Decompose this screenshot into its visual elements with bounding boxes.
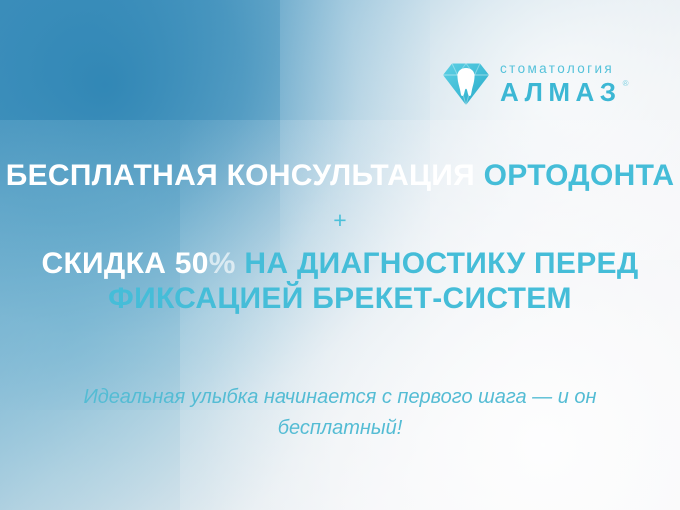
logo-word-bottom-text: АЛМАЗ	[500, 77, 622, 107]
promo-banner: стоматология АЛМАЗ® БЕСПЛАТНАЯ КОНСУЛЬТА…	[0, 0, 680, 510]
headline-line-1-accent: ОРТОДОНТА	[484, 159, 675, 192]
headline-line-2-white: СКИДКА 50	[41, 247, 208, 280]
diamond-tooth-icon	[441, 60, 491, 107]
logo-word-bottom: АЛМАЗ®	[500, 79, 622, 105]
headline-line-1: БЕСПЛАТНАЯ КОНСУЛЬТАЦИЯ ОРТОДОНТА	[0, 160, 680, 192]
headline-percent-sign: %	[209, 247, 236, 280]
logo-wordmark: стоматология АЛМАЗ®	[500, 62, 622, 105]
headline-block: БЕСПЛАТНАЯ КОНСУЛЬТАЦИЯ ОРТОДОНТА + СКИД…	[0, 160, 680, 314]
tagline-block: Идеальная улыбка начинается с первого ша…	[0, 382, 680, 444]
headline-line-1-white: БЕСПЛАТНАЯ КОНСУЛЬТАЦИЯ	[6, 159, 475, 192]
headline-line-3-accent: ФИКСАЦИЕЙ БРЕКЕТ-СИСТЕМ	[108, 282, 572, 315]
headline-line-2: СКИДКА 50% НА ДИАГНОСТИКУ ПЕРЕД	[0, 248, 680, 280]
plus-separator: +	[0, 209, 680, 232]
headline-line-2-accent: НА ДИАГНОСТИКУ ПЕРЕД	[244, 247, 638, 280]
banner-content: стоматология АЛМАЗ® БЕСПЛАТНАЯ КОНСУЛЬТА…	[0, 0, 680, 510]
registered-mark: ®	[623, 80, 629, 88]
clinic-logo: стоматология АЛМАЗ®	[441, 60, 622, 107]
tagline-line-1: Идеальная улыбка начинается с первого ша…	[0, 382, 680, 413]
headline-line-3: ФИКСАЦИЕЙ БРЕКЕТ-СИСТЕМ	[0, 283, 680, 315]
tagline-line-2: бесплатный!	[0, 413, 680, 444]
logo-word-top: стоматология	[500, 62, 622, 76]
